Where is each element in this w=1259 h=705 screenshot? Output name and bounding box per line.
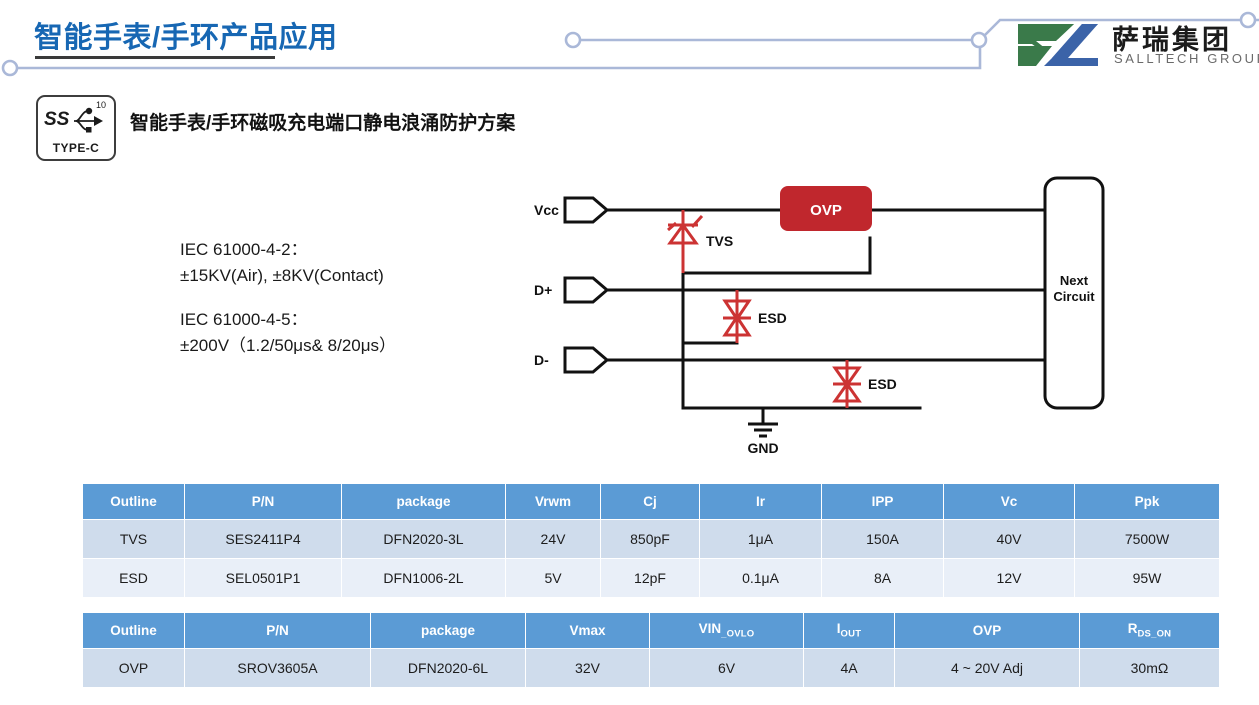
gnd-symbol (748, 408, 778, 436)
cell-vin-ovlo: 6V (650, 649, 804, 688)
cell-package: DFN2020-6L (371, 649, 526, 688)
cell-vmax: 32V (526, 649, 650, 688)
col-vmax: Vmax (526, 613, 650, 649)
page-title: 智能手表/手环产品应用 (34, 14, 338, 56)
table-row: OVP SROV3605A DFN2020-6L 32V 6V 4A 4 ~ 2… (83, 649, 1220, 688)
logo-text-en: SALLTECH GROUP (1114, 51, 1259, 66)
cell-pn: SROV3605A (185, 649, 371, 688)
tvs-device (668, 210, 702, 273)
cell-ir: 1μA (700, 520, 822, 559)
spec-line-2: ±15KV(Air), ±8KV(Contact) (180, 263, 500, 289)
pin-connector-dminus (565, 348, 607, 372)
brand-logo: 萨瑞集团 SALLTECH GROUP (1012, 20, 1250, 72)
protection-circuit-diagram: Vcc D+ D- TVS ESD ESD OVP GND Next C (520, 168, 1130, 463)
cell-package: DFN2020-3L (342, 520, 506, 559)
next-circuit-label-line1: Next (1060, 273, 1089, 288)
next-circuit-label-line2: Circuit (1053, 289, 1095, 304)
type-c-badge: SS 10 TYPE-C (36, 95, 116, 161)
spec-line-3: IEC 61000-4-5： (180, 307, 500, 333)
col-vrwm: Vrwm (506, 484, 601, 520)
col-rdson: RDS_ON (1080, 613, 1220, 649)
table-row: TVS SES2411P4 DFN2020-3L 24V 850pF 1μA 1… (83, 520, 1220, 559)
cell-outline: TVS (83, 520, 185, 559)
cell-pn: SEL0501P1 (185, 559, 342, 598)
cell-package: DFN1006-2L (342, 559, 506, 598)
col-vin-ovlo: VIN_OVLO (650, 613, 804, 649)
col-package: package (371, 613, 526, 649)
spec-line-1: IEC 61000-4-2： (180, 237, 500, 263)
cell-outline: OVP (83, 649, 185, 688)
ovp-spec-table: Outline P/N package Vmax VIN_OVLO IOUT O… (82, 612, 1220, 688)
usb-superspeed-icon: SS 10 (38, 97, 114, 141)
cell-iout: 4A (804, 649, 895, 688)
salltech-logo-icon (1012, 20, 1104, 70)
cell-ir: 0.1μA (700, 559, 822, 598)
type-c-label: TYPE-C (38, 141, 114, 155)
col-outline: Outline (83, 613, 185, 649)
section-subtitle: 智能手表/手环磁吸充电端口静电浪涌防护方案 (130, 108, 515, 135)
ovp-label: OVP (810, 202, 842, 219)
trace-node-right (972, 33, 986, 47)
svg-text:SS: SS (44, 109, 70, 130)
col-cj: Cj (601, 484, 700, 520)
col-iout: IOUT (804, 613, 895, 649)
svg-text:10: 10 (96, 100, 106, 110)
trace-node-left (3, 61, 17, 75)
col-package: package (342, 484, 506, 520)
cell-cj: 850pF (601, 520, 700, 559)
esd-device-1 (723, 290, 751, 343)
tvs-label: TVS (706, 233, 733, 249)
cell-vrwm: 5V (506, 559, 601, 598)
pin-label-dplus: D+ (534, 282, 552, 298)
cell-vc: 12V (944, 559, 1075, 598)
pin-label-vcc: Vcc (534, 202, 559, 218)
cell-ovp: 4 ~ 20V Adj (895, 649, 1080, 688)
col-ir: Ir (700, 484, 822, 520)
cell-pn: SES2411P4 (185, 520, 342, 559)
spec-text-block: IEC 61000-4-2： ±15KV(Air), ±8KV(Contact)… (180, 237, 500, 359)
col-ipp: IPP (822, 484, 944, 520)
col-pn: P/N (185, 613, 371, 649)
col-ovp: OVP (895, 613, 1080, 649)
table-header-row: Outline P/N package Vrwm Cj Ir IPP Vc Pp… (83, 484, 1220, 520)
tvs-esd-spec-table: Outline P/N package Vrwm Cj Ir IPP Vc Pp… (82, 483, 1220, 598)
table-row: ESD SEL0501P1 DFN1006-2L 5V 12pF 0.1μA 8… (83, 559, 1220, 598)
esd-label-1: ESD (758, 310, 787, 326)
page-header: 智能手表/手环产品应用 萨瑞集团 SALLTECH GROUP (0, 0, 1259, 90)
gnd-label: GND (747, 440, 778, 456)
cell-ppk: 95W (1075, 559, 1220, 598)
spec-gap (180, 289, 500, 307)
cell-ipp: 150A (822, 520, 944, 559)
cell-vc: 40V (944, 520, 1075, 559)
esd-label-2: ESD (868, 376, 897, 392)
spec-line-4: ±200V（1.2/50μs& 8/20μs） (180, 333, 500, 359)
pin-connector-vcc (565, 198, 607, 222)
col-ppk: Ppk (1075, 484, 1220, 520)
cell-rdson: 30mΩ (1080, 649, 1220, 688)
pin-label-dminus: D- (534, 352, 549, 368)
table-header-row: Outline P/N package Vmax VIN_OVLO IOUT O… (83, 613, 1220, 649)
cell-vrwm: 24V (506, 520, 601, 559)
col-pn: P/N (185, 484, 342, 520)
trace-node-mid (566, 33, 580, 47)
cell-ipp: 8A (822, 559, 944, 598)
title-underline (35, 56, 275, 59)
cell-ppk: 7500W (1075, 520, 1220, 559)
cell-outline: ESD (83, 559, 185, 598)
cell-cj: 12pF (601, 559, 700, 598)
col-vc: Vc (944, 484, 1075, 520)
pin-connector-dplus (565, 278, 607, 302)
esd-device-2 (833, 360, 861, 408)
col-outline: Outline (83, 484, 185, 520)
